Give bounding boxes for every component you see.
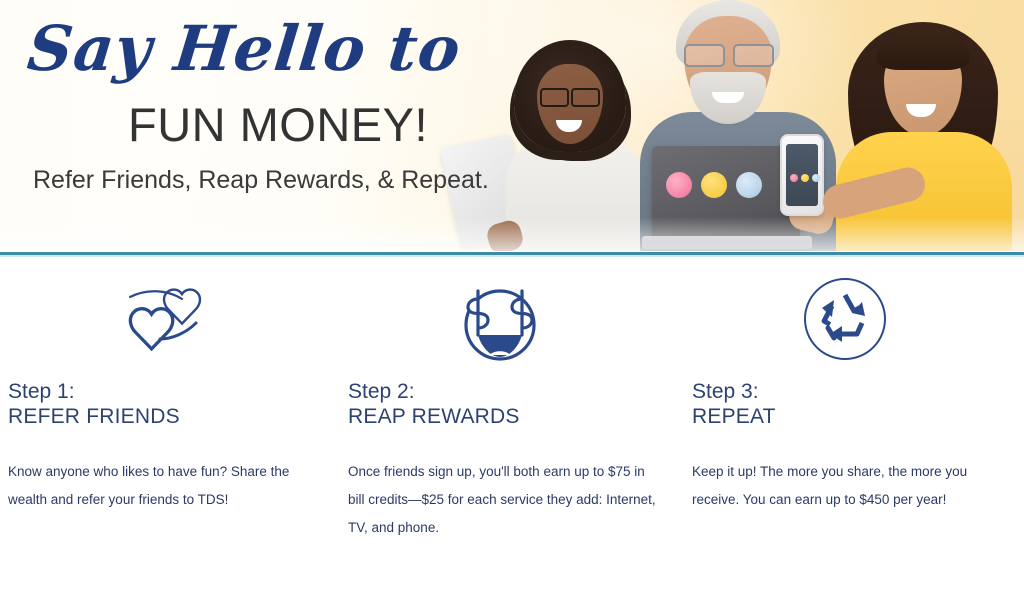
phone-screen-emojis	[790, 174, 820, 182]
step-2-icon-wrap	[348, 258, 678, 380]
step-3-label: Step 3:	[692, 380, 759, 403]
section-divider	[0, 251, 1024, 256]
recycle-emoji	[812, 174, 820, 182]
money-face-emoji	[801, 174, 809, 182]
step-card-1: Step 1: REFER FRIENDS Know anyone who li…	[8, 258, 338, 514]
hero-headline: FUN MONEY!	[128, 97, 428, 152]
step-2-heading: Step 2: REAP REWARDS	[348, 380, 678, 430]
money-face-emoji	[701, 172, 727, 198]
divider-halo	[0, 255, 1024, 257]
step-1-label: Step 1:	[8, 380, 75, 403]
step-3-body: Keep it up! The more you share, the more…	[692, 458, 980, 515]
step-card-3: Step 3: REPEAT Keep it up! The more you …	[692, 258, 1022, 514]
two-hearts-icon	[116, 281, 212, 357]
heart-emoji	[790, 174, 798, 182]
step-1-icon-wrap	[8, 258, 338, 380]
step-2-label: Step 2:	[348, 380, 415, 403]
laptop-screen-emojis	[666, 172, 762, 198]
hero-banner: Say Hello to FUN MONEY! Refer Friends, R…	[0, 0, 1024, 251]
step-1-title: REFER FRIENDS	[8, 405, 338, 430]
hero-script-headline: Say Hello to	[25, 18, 464, 80]
recycle-circle-icon	[802, 276, 888, 362]
eyeglasses-icon	[540, 88, 600, 103]
heart-emoji	[666, 172, 692, 198]
step-3-icon-wrap	[692, 258, 1022, 380]
step-2-title: REAP REWARDS	[348, 405, 678, 430]
step-3-heading: Step 3: REPEAT	[692, 380, 1022, 430]
step-3-title: REPEAT	[692, 405, 1022, 430]
hero-subheadline: Refer Friends, Reap Rewards, & Repeat.	[33, 166, 489, 195]
step-1-heading: Step 1: REFER FRIENDS	[8, 380, 338, 430]
step-card-2: Step 2: REAP REWARDS Once friends sign u…	[348, 258, 678, 543]
photo-fade-overlay-bottom	[0, 217, 1024, 251]
eyeglasses-icon	[684, 44, 774, 63]
phone-screen	[786, 144, 818, 206]
money-face-icon	[454, 273, 546, 365]
person-woman-in-yellow	[826, 16, 1018, 251]
hero-photo-collage	[464, 0, 1024, 251]
recycle-emoji	[736, 172, 762, 198]
referral-landing-page: Say Hello to FUN MONEY! Refer Friends, R…	[0, 0, 1024, 596]
step-1-body: Know anyone who likes to have fun? Share…	[8, 458, 308, 515]
step-2-body: Once friends sign up, you'll both earn u…	[348, 458, 660, 543]
steps-section: Step 1: REFER FRIENDS Know anyone who li…	[0, 258, 1024, 596]
smartphone-device	[780, 134, 824, 216]
